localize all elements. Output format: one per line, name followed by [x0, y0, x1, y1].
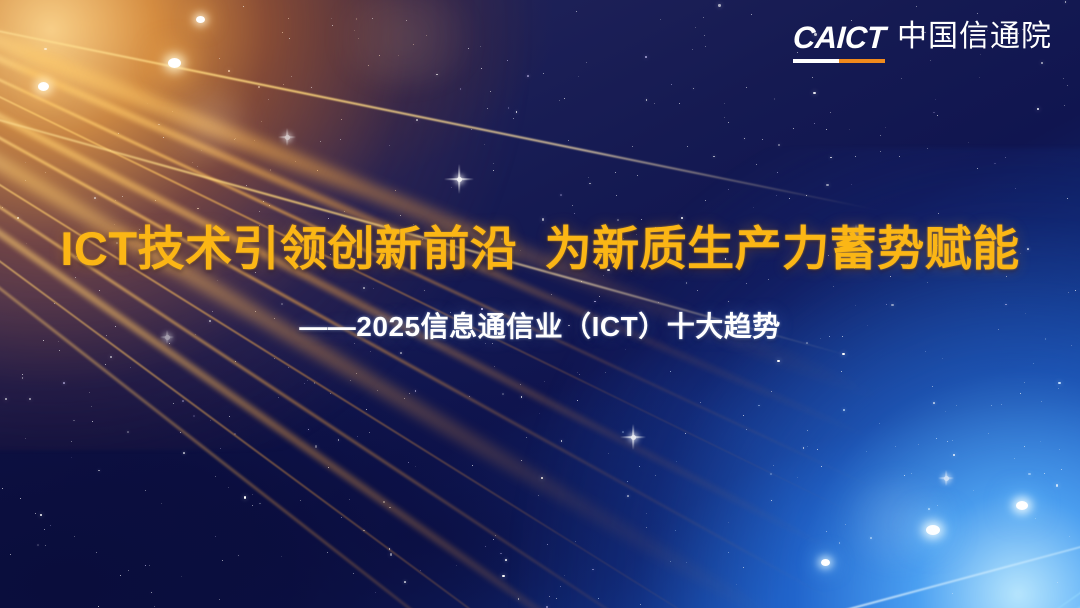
slide-main-title: ICT技术引领创新前沿 为新质生产力蓄势赋能 [0, 222, 1080, 277]
caict-logo-underline [793, 59, 885, 63]
caict-wordmark: CAICT [792, 22, 886, 53]
caict-wordmark-block: CAICT [793, 22, 885, 63]
caict-logo: CAICT 中国信通院 [793, 22, 1052, 63]
slide-subtitle: ——2025信息通信业（ICT）十大趋势 [0, 310, 1080, 344]
caict-chinese-name: 中国信通院 [897, 22, 1052, 53]
title-slide: CAICT 中国信通院 ICT技术引领创新前沿 为新质生产力蓄势赋能 ——202… [0, 0, 1080, 608]
logo-underline-white-segment [793, 59, 839, 63]
title-block: ICT技术引领创新前沿 为新质生产力蓄势赋能 ——2025信息通信业（ICT）十… [0, 222, 1080, 343]
logo-underline-orange-segment [839, 59, 885, 63]
